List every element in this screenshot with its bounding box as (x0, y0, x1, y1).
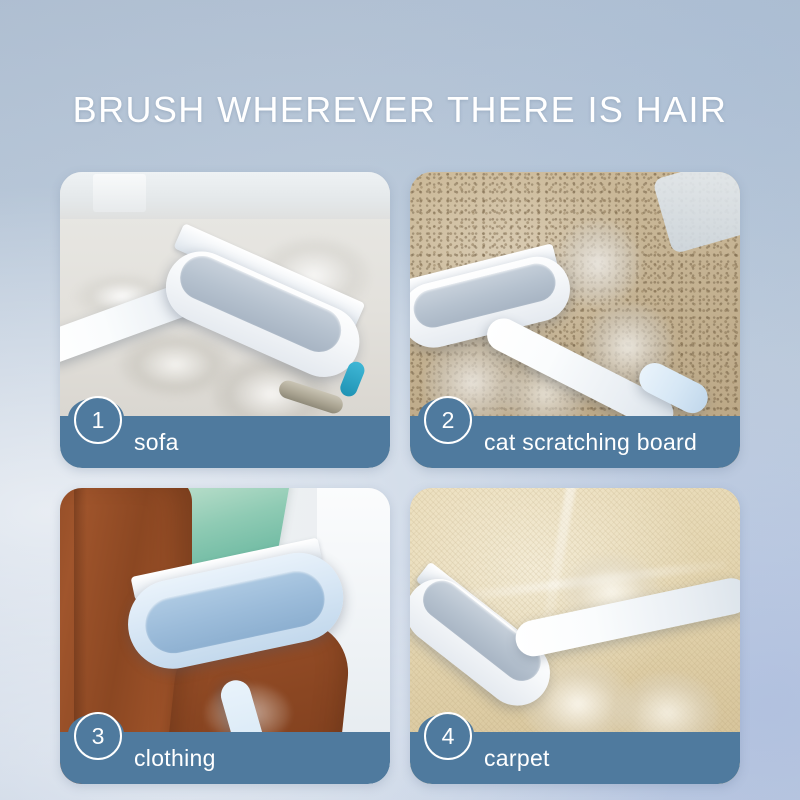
page-title: BRUSH WHEREVER THERE IS HAIR (0, 92, 800, 128)
panel-caption-clothing: 3 clothing (60, 732, 390, 784)
panel-caption-label: clothing (134, 747, 216, 770)
panel-number-badge: 4 (424, 712, 472, 760)
panel-caption-label: sofa (134, 431, 179, 454)
brush-bristles (277, 378, 345, 415)
panel-caption-carpet: 4 carpet (410, 732, 740, 784)
panel-number-badge: 1 (74, 396, 122, 444)
panel-grid: 1 sofa (60, 172, 740, 784)
panel-card-cat-scratching-board[interactable]: 2 cat scratching board (410, 172, 740, 468)
brush-handle (512, 575, 740, 659)
panel-card-sofa[interactable]: 1 sofa (60, 172, 390, 468)
panel-card-carpet[interactable]: 4 carpet (410, 488, 740, 784)
panel-caption-sofa: 1 sofa (60, 416, 390, 468)
panel-number-badge: 3 (74, 712, 122, 760)
poster-canvas: BRUSH WHEREVER THERE IS HAIR (0, 0, 800, 800)
panel-number-badge: 2 (424, 396, 472, 444)
panel-caption-label: carpet (484, 747, 550, 770)
panel-card-clothing[interactable]: 3 clothing (60, 488, 390, 784)
panel-caption-cat-scratching-board: 2 cat scratching board (410, 416, 740, 468)
panel-caption-label: cat scratching board (484, 431, 697, 454)
